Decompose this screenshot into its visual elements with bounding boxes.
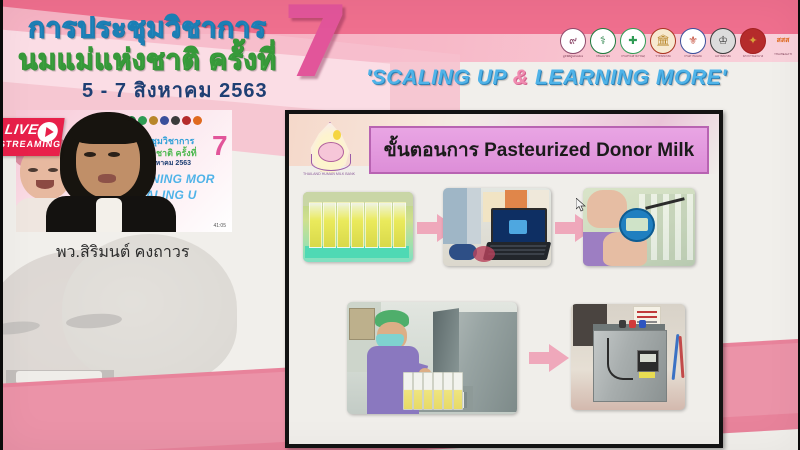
ministry-public-health-logo-icon: ⚕ (590, 28, 616, 54)
royal-patronage-logo-icon: ๙ (560, 28, 586, 54)
slogan-ampersand: & (513, 66, 529, 89)
speaker-person (50, 112, 166, 232)
slogan-suffix: LEARNING MORE' (529, 66, 727, 89)
process-arrow-right (529, 344, 569, 372)
streaming-label: STREAMING (0, 139, 62, 149)
sponsor-logo-caption: กรมการแพทย์ (681, 55, 704, 58)
sponsor-logo-0: ๙มูลนิธิศูนย์นมแม่ (560, 28, 586, 64)
sponsor-logo-caption: มหาวิทยาลัย (711, 55, 734, 58)
sponsor-logo-3: 🏛ราชวิทยาลัย (650, 28, 676, 64)
sponsor-logo-6: ✦สภาการพยาบาล (740, 28, 766, 64)
screen: การประชุมวิชาการ นมแม่แห่งชาติ ครั้งที่ … (0, 0, 800, 450)
sponsor-logo-caption: THAIHEALTH (771, 53, 794, 56)
milk-drop-logo: THAILAND HUMAN MILK BANK (297, 120, 361, 182)
event-header: การประชุมวิชาการ นมแม่แห่งชาติ ครั้งที่ … (0, 0, 800, 105)
sponsor-logo-caption: ราชวิทยาลัย (651, 55, 674, 58)
milk-bottles-storage-photo (303, 192, 413, 262)
computer-records-photo (443, 188, 551, 266)
department-health-logo-icon: ✚ (620, 28, 646, 54)
slogan-prefix: 'SCALING UP (366, 66, 513, 89)
backdrop-edition-number: 7 (212, 132, 228, 160)
event-date: 5 - 7 สิงหาคม 2563 (82, 74, 268, 106)
digital-thermometer-photo (583, 188, 695, 266)
mouse-cursor (576, 198, 586, 212)
royal-crest-logo-icon: ⚜ (680, 28, 706, 54)
slide-title-banner: ขั้นตอนการ Pasteurized Donor Milk (369, 126, 709, 174)
royal-college-logo-icon: 🏛 (650, 28, 676, 54)
nurse-loading-pasteurizer-photo (347, 302, 517, 414)
milk-drop-logo-caption: THAILAND HUMAN MILK BANK (297, 172, 361, 176)
sponsor-logo-7: สสสTHAIHEALTH (770, 28, 796, 64)
live-label: LIVE (4, 121, 39, 137)
event-edition-number: 7 (282, 0, 350, 92)
sponsor-logo-2: ✚กระทรวงสาธารณสุข (620, 28, 646, 64)
slide-title-text: ขั้นตอนการ Pasteurized Donor Milk (384, 135, 694, 165)
event-slogan: 'SCALING UP & LEARNING MORE' (366, 66, 727, 90)
thaihealth-sss-logo-icon: สสส (771, 28, 795, 52)
video-timecode: 41:05 (211, 223, 228, 229)
university-seal-logo-icon: ♔ (710, 28, 736, 54)
sponsor-logo-caption: สภาการพยาบาล (741, 55, 764, 58)
pasteurizer-machine-photo (571, 304, 685, 410)
left-edge (0, 0, 3, 450)
red-crest-logo-icon: ✦ (740, 28, 766, 54)
sponsor-logo-1: ⚕กรมอนามัย (590, 28, 616, 64)
sponsor-logo-caption: มูลนิธิศูนย์นมแม่ (561, 55, 584, 58)
sponsor-logo-caption: กระทรวงสาธารณสุข (621, 55, 644, 58)
live-streaming-badge: LIVE STREAMING (0, 118, 65, 156)
sponsor-logo-caption: กรมอนามัย (591, 55, 614, 58)
presentation-slide[interactable]: THAILAND HUMAN MILK BANK ขั้นตอนการ Past… (285, 110, 723, 448)
speaker-name: พว.สิริมนต์ คงถาวร (56, 240, 189, 265)
sponsor-logo-5: ♔มหาวิทยาลัย (710, 28, 736, 64)
sponsor-logos: ๙มูลนิธิศูนย์นมแม่ ⚕กรมอนามัย ✚กระทรวงสา… (560, 28, 796, 66)
sponsor-logo-4: ⚜กรมการแพทย์ (680, 28, 706, 64)
